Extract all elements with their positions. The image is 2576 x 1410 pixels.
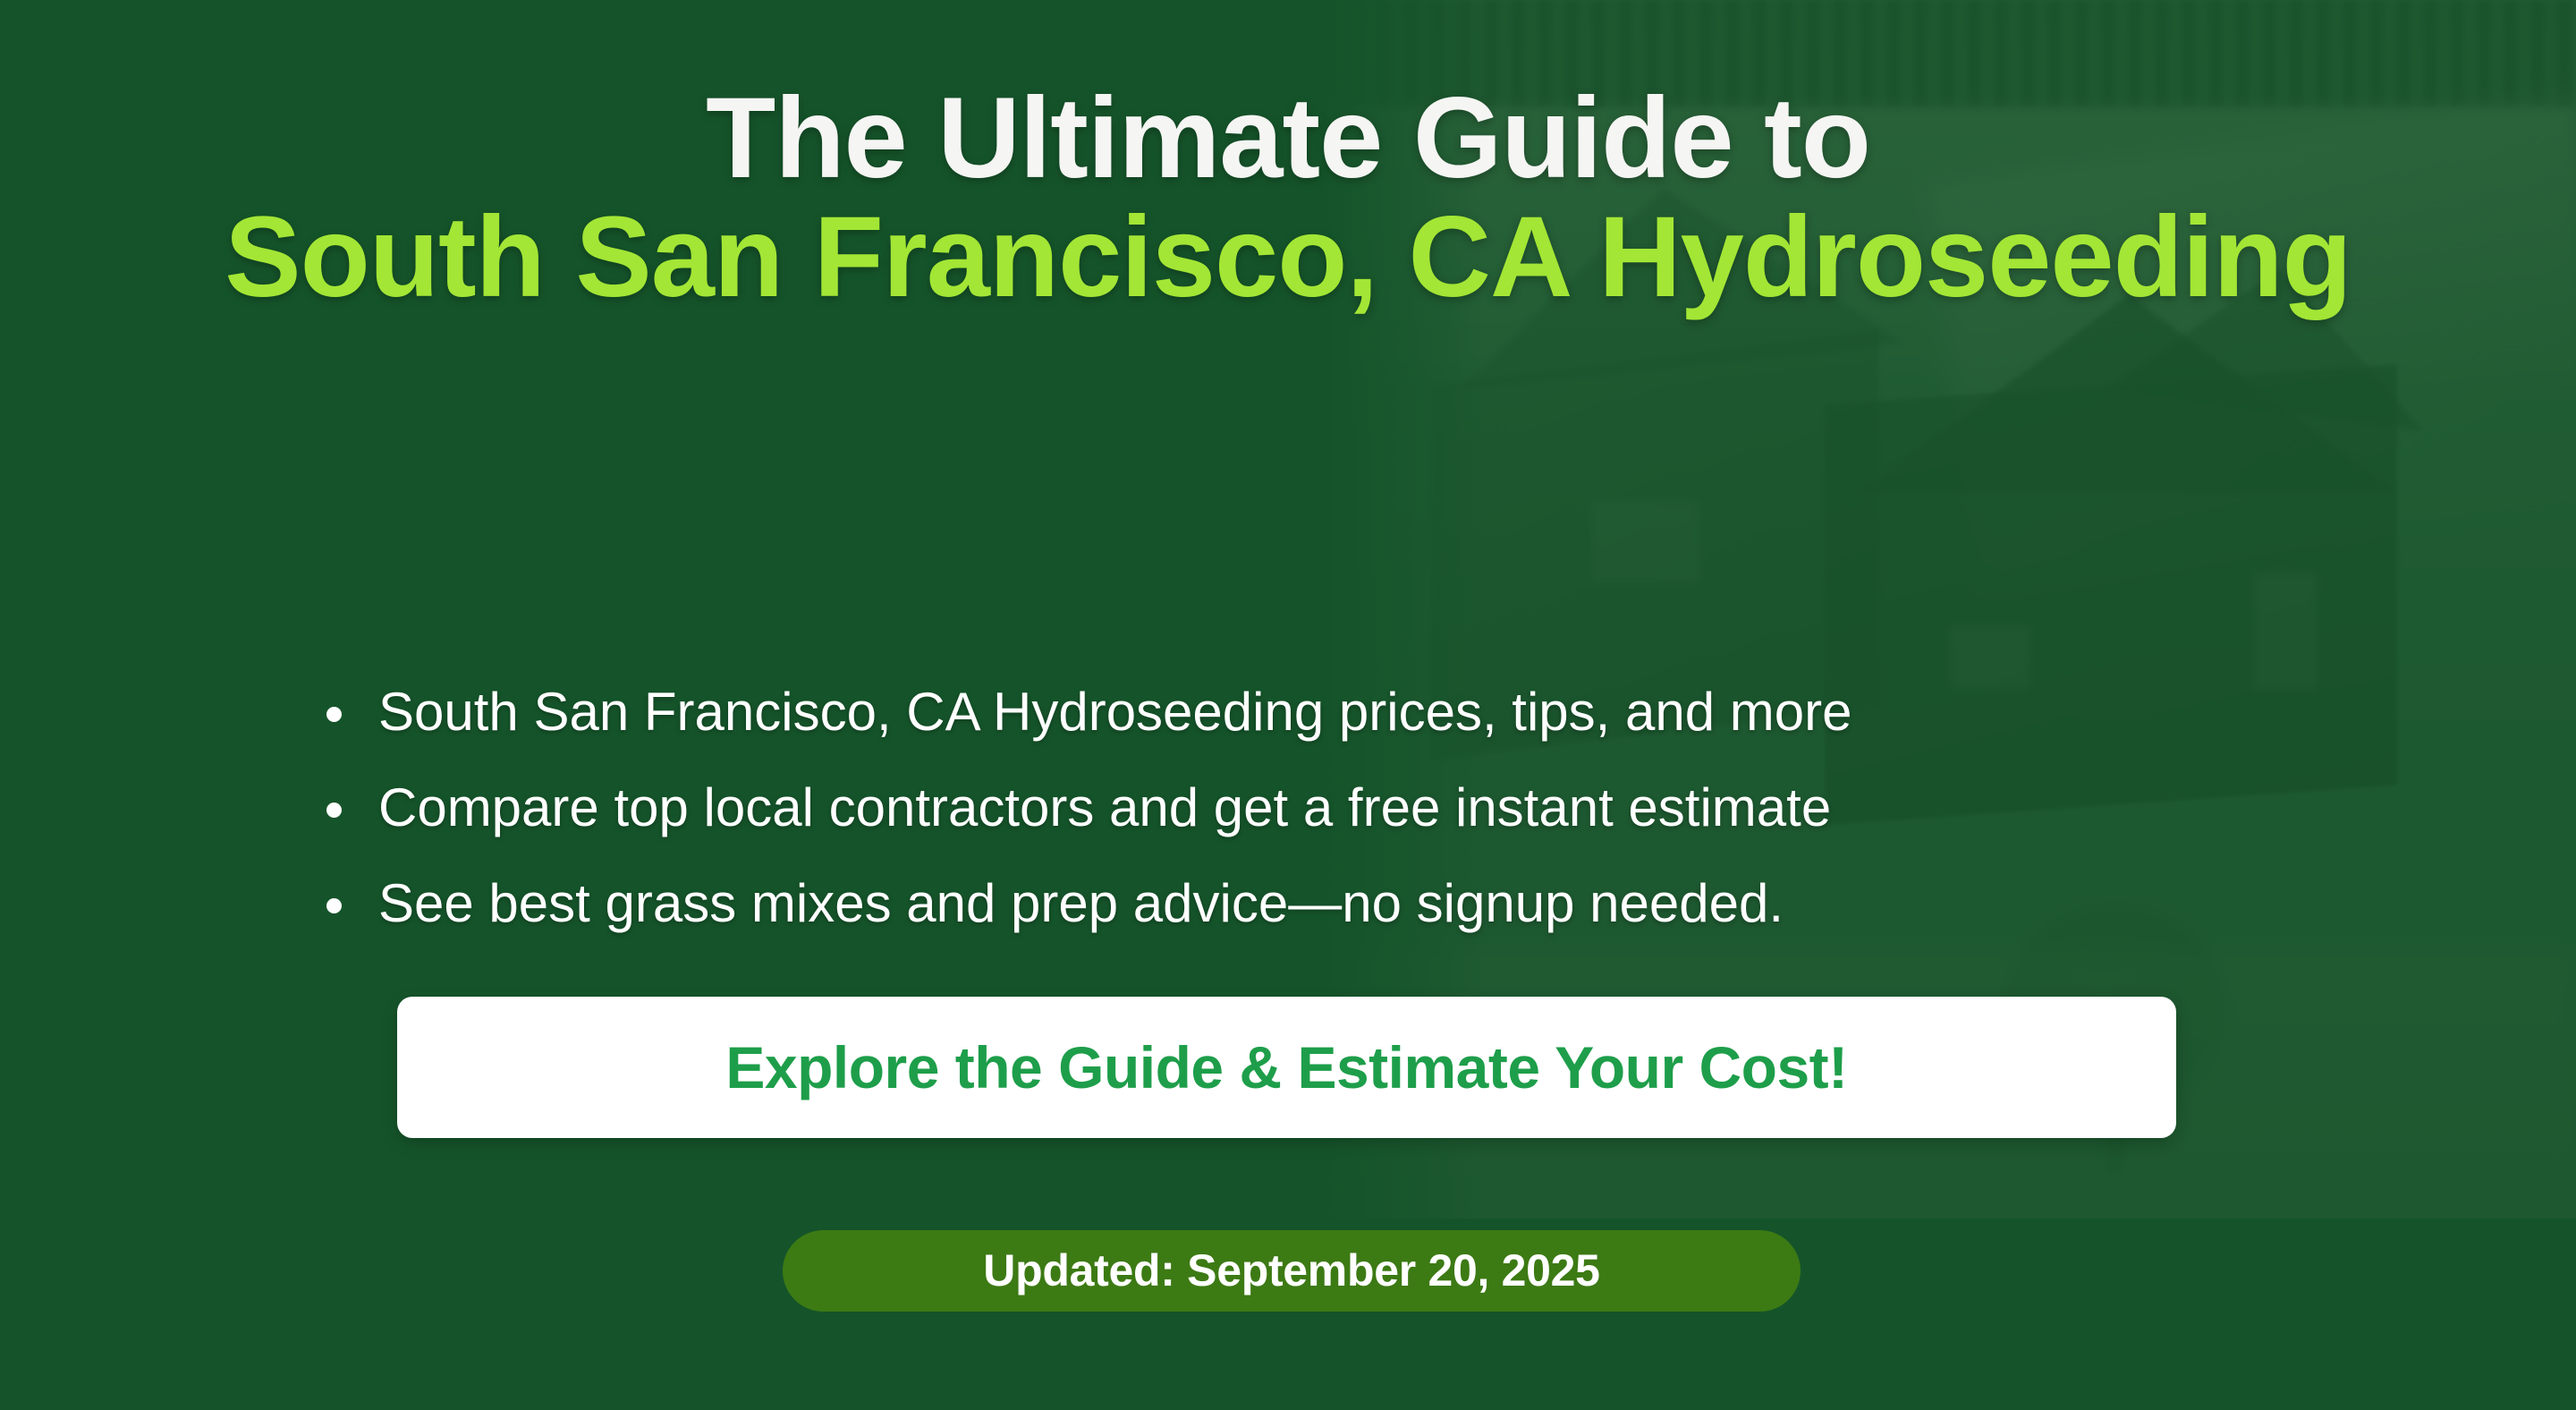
updated-date-badge: Updated: September 20, 2025 <box>783 1230 1801 1312</box>
list-item: South San Francisco, CA Hydroseeding pri… <box>326 685 1851 739</box>
explore-guide-cta-button[interactable]: Explore the Guide & Estimate Your Cost! <box>397 997 2176 1138</box>
headline-line-2: South San Francisco, CA Hydroseeding <box>0 198 2576 317</box>
page-title: The Ultimate Guide to South San Francisc… <box>0 79 2576 317</box>
headline-line-1: The Ultimate Guide to <box>0 79 2576 198</box>
hero-banner: The Ultimate Guide to South San Francisc… <box>0 0 2576 1410</box>
list-item: Compare top local contractors and get a … <box>326 781 1851 835</box>
hero-content: The Ultimate Guide to South San Francisc… <box>0 0 2576 1410</box>
benefit-list: South San Francisco, CA Hydroseeding pri… <box>326 685 1851 973</box>
list-item: See best grass mixes and prep advice—no … <box>326 877 1851 930</box>
